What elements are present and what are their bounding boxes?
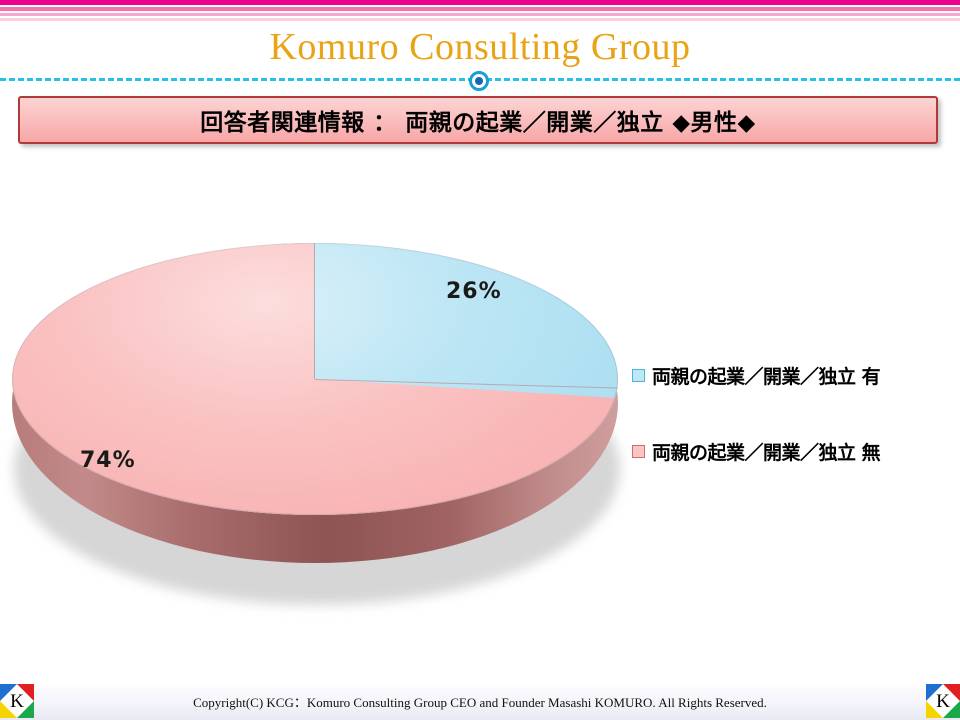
section-banner: 回答者関連情報 ： 両親の起業／開業／独立 ◆男性◆ [18,96,938,144]
slice-divider-vertical [314,243,315,379]
stripe-8 [0,21,960,22]
legend-label-0: 両親の起業／開業／独立 有 [652,362,880,389]
header-divider [0,70,960,92]
kcg-logo-icon-right: K [926,684,960,718]
legend-item-1: 両親の起業／開業／独立 無 [632,436,952,466]
legend-swatch-icon-0 [632,369,645,382]
copyright-text: Copyright(C) KCG：Komuro Consulting Group… [34,692,926,711]
bullseye-icon [469,71,489,91]
banner-text: 回答者関連情報 ： 両親の起業／開業／独立 ◆男性◆ [200,103,755,137]
page-title: Komuro Consulting Group [0,23,960,71]
kcg-logo-icon-left: K [0,684,34,718]
chart-legend: 両親の起業／開業／独立 有 両親の起業／開業／独立 無 [632,360,952,512]
footer: K Copyright(C) KCG：Komuro Consulting Gro… [0,682,960,720]
logo-letter: K [0,684,34,718]
pie-chart: 26% 74% [8,215,628,615]
pie-slice-label-0: 26% [446,279,502,304]
legend-item-0: 両親の起業／開業／独立 有 [632,360,952,390]
legend-label-1: 両親の起業／開業／独立 無 [652,438,880,465]
logo-letter: K [926,684,960,718]
legend-swatch-icon-1 [632,445,645,458]
top-decorative-stripes [0,0,960,22]
pie-slice-label-1: 74% [80,448,136,473]
chart-area: 26% 74% 両親の起業／開業／独立 有 両親の起業／開業／独立 無 [0,195,960,635]
